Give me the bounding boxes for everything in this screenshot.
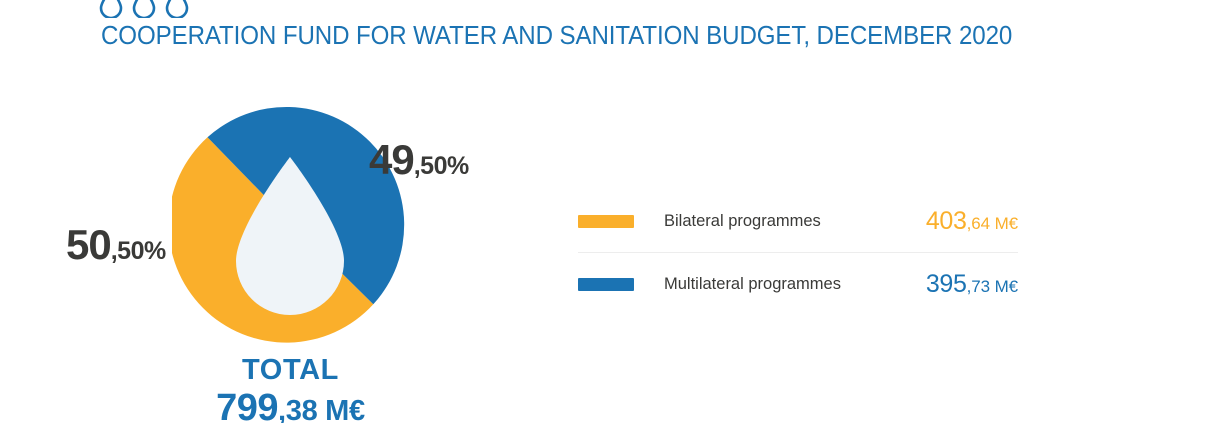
legend-value: 403,64 M€ (888, 209, 1018, 234)
legend-swatch-multilateral (578, 278, 634, 291)
legend-value-decimal: ,73 M€ (967, 277, 1018, 296)
percentage-integer: 50 (66, 221, 111, 268)
legend-value-integer: 403 (926, 207, 967, 235)
header-drop-icon-group (98, 0, 190, 18)
total-integer: 799 (216, 387, 278, 423)
water-drop-icon (98, 0, 124, 18)
total-amount: 799,38 M€ (143, 389, 438, 423)
chart-legend: Bilateral programmes 403,64 M€ Multilate… (578, 190, 1018, 315)
legend-label: Multilateral programmes (664, 275, 888, 294)
percentage-decimal: ,50% (414, 152, 469, 180)
water-drop-icon (131, 0, 157, 18)
legend-value-decimal: ,64 M€ (967, 214, 1018, 233)
percentage-label-multilateral: 49,50% (369, 139, 469, 181)
percentage-integer: 49 (369, 136, 414, 183)
infographic-page: COOPERATION FUND FOR WATER AND SANITATIO… (0, 0, 1210, 423)
percentage-label-bilateral: 50,50% (66, 224, 166, 266)
legend-row[interactable]: Multilateral programmes 395,73 M€ (578, 253, 1018, 315)
percentage-decimal: ,50% (111, 237, 166, 265)
legend-value: 395,73 M€ (888, 272, 1018, 297)
legend-swatch-bilateral (578, 215, 634, 228)
total-block: TOTAL 799,38 M€ (143, 356, 438, 423)
legend-value-integer: 395 (926, 270, 967, 298)
total-decimal: ,38 M€ (278, 395, 365, 423)
legend-row[interactable]: Bilateral programmes 403,64 M€ (578, 190, 1018, 252)
page-title: COOPERATION FUND FOR WATER AND SANITATIO… (101, 22, 1012, 50)
legend-label: Bilateral programmes (664, 212, 888, 231)
water-drop-icon (164, 0, 190, 18)
total-caption: TOTAL (143, 356, 438, 386)
